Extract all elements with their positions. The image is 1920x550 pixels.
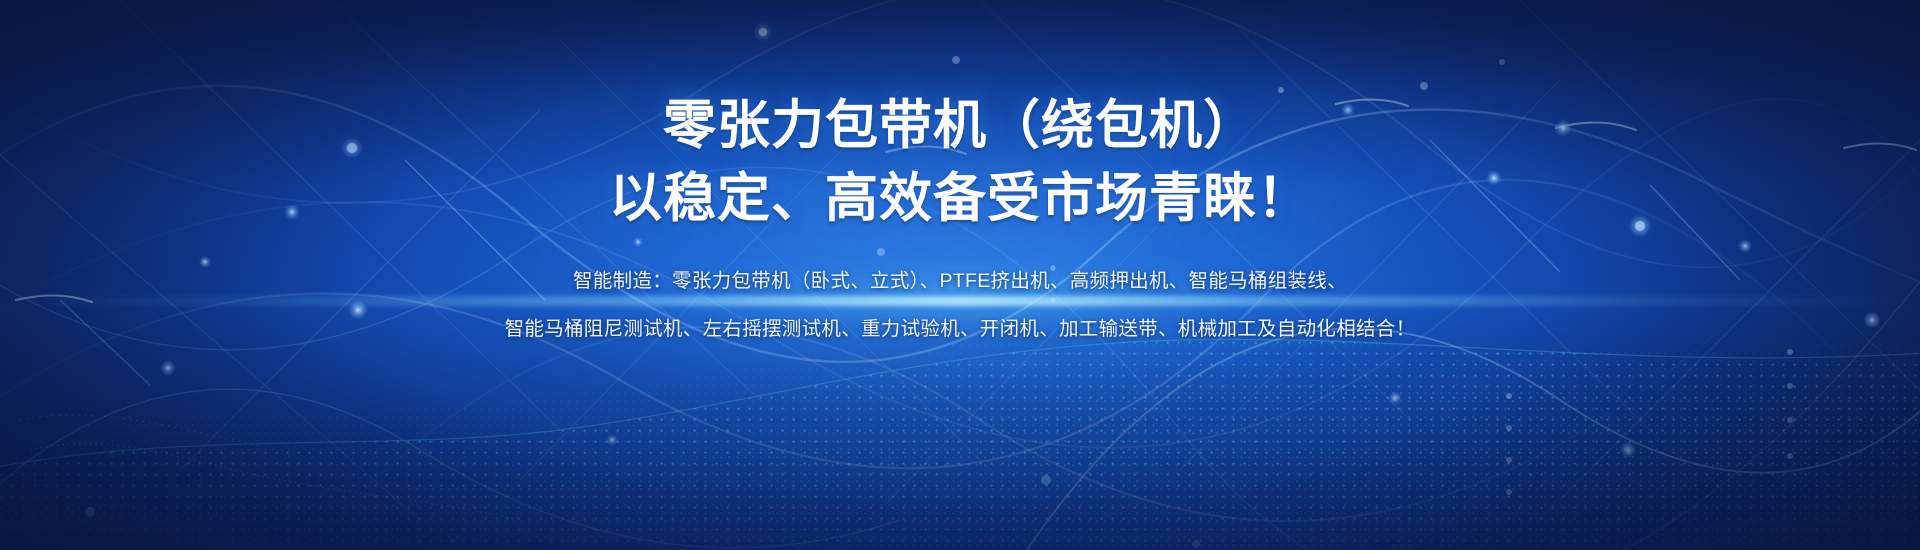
banner-content: 零张力包带机（绕包机） 以稳定、高效备受市场青睐！ 智能制造：零张力包带机（卧式…	[0, 0, 1920, 550]
headline-line-1: 零张力包带机（绕包机）	[663, 94, 1257, 159]
subtitle-line-1: 智能制造：零张力包带机（卧式、立式）、PTFE挤出机、高频押出机、智能马桶组装线…	[573, 267, 1347, 296]
headline-line-2: 以稳定、高效备受市场青睐！	[609, 167, 1311, 232]
subtitle-line-2: 智能马桶阻尼测试机、左右摇摆测试机、重力试验机、开闭机、加工输送带、机械加工及自…	[505, 315, 1416, 344]
promo-banner: 零张力包带机（绕包机） 以稳定、高效备受市场青睐！ 智能制造：零张力包带机（卧式…	[0, 0, 1920, 550]
